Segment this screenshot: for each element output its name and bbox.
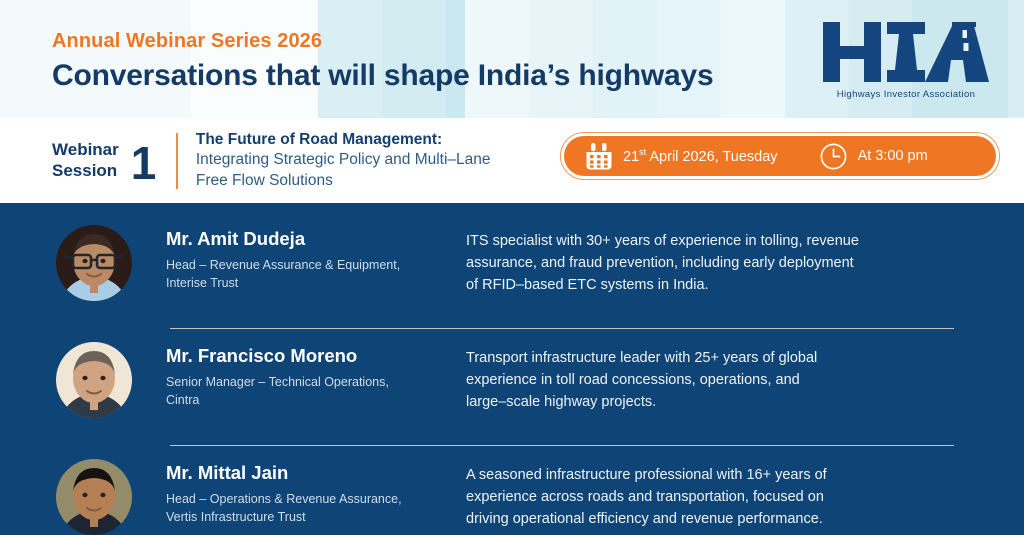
speaker-role: Head – Revenue Assurance & Equipment,Int… xyxy=(166,256,466,292)
webinar-poster: Annual Webinar Series 2026 Conversations… xyxy=(0,0,1024,535)
date-time-pill-inner: 21st April 2026, Tuesday At 3:00 pm xyxy=(564,136,996,176)
speaker-role-line1: Head – Revenue Assurance & Equipment, xyxy=(166,256,466,274)
speaker-bio: A seasoned infrastructure professional w… xyxy=(466,457,990,530)
speaker-bio-line1: ITS specialist with 30+ years of experie… xyxy=(466,230,990,252)
session-title-line2: Integrating Strategic Policy and Multi–L… xyxy=(196,150,491,170)
speaker-name: Mr. Francisco Moreno xyxy=(166,346,466,366)
speaker-identity: Mr. Francisco MorenoSenior Manager – Tec… xyxy=(166,340,466,410)
speaker-separator xyxy=(170,445,954,446)
speaker-role-line1: Senior Manager – Technical Operations, xyxy=(166,373,466,391)
speaker-row: Mr. Amit DudejaHead – Revenue Assurance … xyxy=(34,217,990,323)
speaker-separator xyxy=(170,328,954,329)
header-stripe-9 xyxy=(721,0,785,118)
calendar-icon xyxy=(586,143,612,170)
speaker-bio-line2: assurance, and fraud prevention, includi… xyxy=(466,252,990,274)
date-day: 21 xyxy=(623,149,639,165)
speaker-role: Head – Operations & Revenue Assurance,Ve… xyxy=(166,490,466,526)
speaker-bio-line3: of RFID–based ETC systems in India. xyxy=(466,274,990,296)
speaker-role: Senior Manager – Technical Operations,Ci… xyxy=(166,373,466,409)
speaker-role-line2: Vertis Infrastructure Trust xyxy=(166,508,466,526)
speaker-bio-line3: driving operational efficiency and reven… xyxy=(466,508,990,530)
speaker-photo-amit-dudeja xyxy=(56,225,132,301)
date-time-pill[interactable]: 21st April 2026, Tuesday At 3:00 pm xyxy=(560,132,1000,180)
date-rest: April 2026, Tuesday xyxy=(646,149,777,165)
session-title-line3: Free Flow Solutions xyxy=(196,171,491,191)
header-stripe-13 xyxy=(1008,0,1024,118)
speaker-name: Mr. Amit Dudeja xyxy=(166,229,466,249)
speaker-identity: Mr. Amit DudejaHead – Revenue Assurance … xyxy=(166,223,466,293)
series-kicker: Annual Webinar Series 2026 xyxy=(52,30,714,52)
session-label-line2: Session xyxy=(52,161,117,180)
speaker-role-line1: Head – Operations & Revenue Assurance, xyxy=(166,490,466,508)
clock-icon xyxy=(820,143,847,170)
speaker-bio-line3: large–scale highway projects. xyxy=(466,391,990,413)
speaker-bio-line1: Transport infrastructure leader with 25+… xyxy=(466,347,990,369)
speaker-bio-line2: experience across roads and transportati… xyxy=(466,486,990,508)
hia-logo: Highways Investor Association xyxy=(816,22,996,100)
session-number: 1 xyxy=(131,140,157,186)
header-banner: Annual Webinar Series 2026 Conversations… xyxy=(0,0,1024,118)
speaker-photo-mittal-jain xyxy=(56,459,132,535)
page-title: Conversations that will shape India’s hi… xyxy=(52,59,714,94)
speaker-bio-line2: experience in toll road concessions, ope… xyxy=(466,369,990,391)
speaker-list: Mr. Amit DudejaHead – Revenue Assurance … xyxy=(0,203,1024,535)
speaker-row: Mr. Francisco MorenoSenior Manager – Tec… xyxy=(34,334,990,440)
speaker-bio-line1: A seasoned infrastructure professional w… xyxy=(466,464,990,486)
logo-tagline: Highways Investor Association xyxy=(816,89,996,100)
hia-logo-mark xyxy=(823,22,989,86)
speaker-bio: Transport infrastructure leader with 25+… xyxy=(466,340,990,413)
webinar-time: At 3:00 pm xyxy=(858,148,928,164)
speaker-name: Mr. Mittal Jain xyxy=(166,463,466,483)
speaker-role-line2: Cintra xyxy=(166,391,466,409)
session-title-line1: The Future of Road Management: xyxy=(196,130,491,150)
speaker-identity: Mr. Mittal JainHead – Operations & Reven… xyxy=(166,457,466,527)
header-text-block: Annual Webinar Series 2026 Conversations… xyxy=(52,30,714,94)
session-label: Webinar Session xyxy=(52,140,119,181)
speaker-role-line2: Interise Trust xyxy=(166,274,466,292)
session-title: The Future of Road Management: Integrati… xyxy=(196,130,491,190)
session-divider xyxy=(176,133,178,189)
speaker-bio: ITS specialist with 30+ years of experie… xyxy=(466,223,990,296)
speaker-row: Mr. Mittal JainHead – Operations & Reven… xyxy=(34,451,990,535)
speaker-photo-francisco-moreno xyxy=(56,342,132,418)
webinar-date: 21st April 2026, Tuesday xyxy=(623,147,778,165)
session-label-line1: Webinar xyxy=(52,140,119,159)
